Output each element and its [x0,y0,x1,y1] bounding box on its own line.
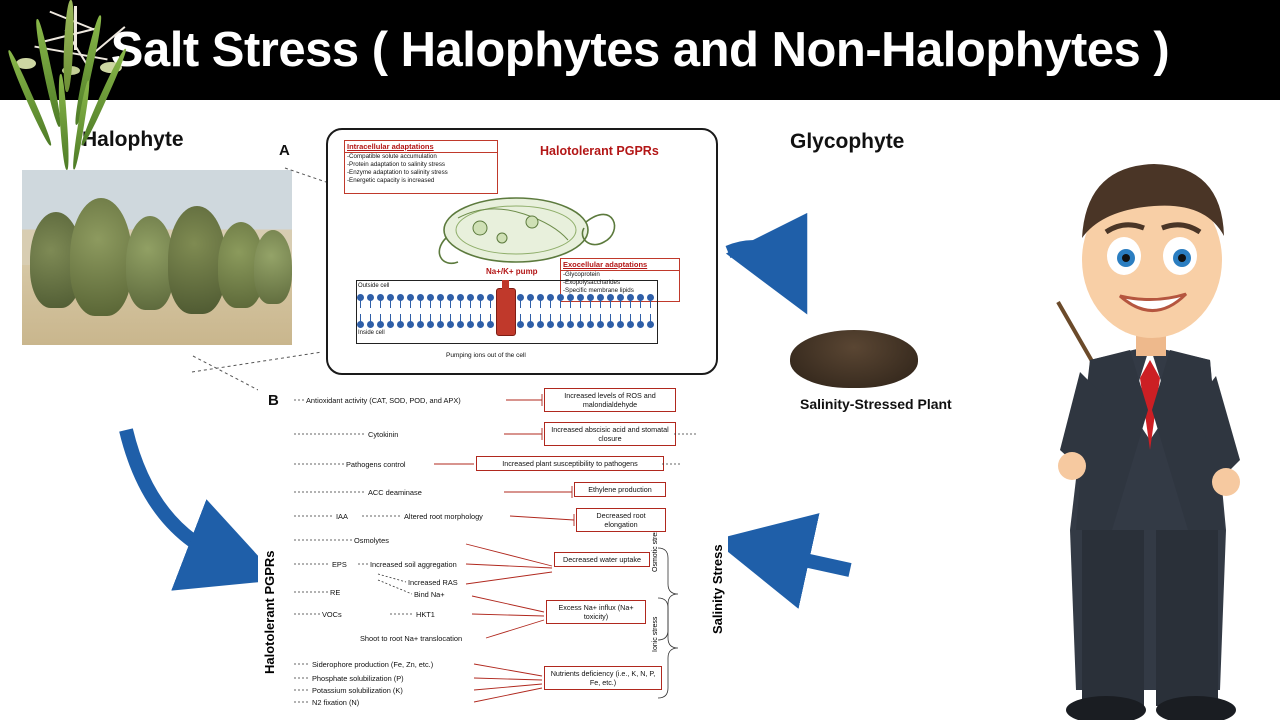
presenter-character [1020,110,1280,720]
panel-b-connectors [258,384,728,704]
panel-b: B Halotolerant PGPRs Salinity Stress Osm… [258,384,728,704]
slide-canvas: Salt Stress ( Halophytes and Non-Halophy… [0,0,1280,720]
